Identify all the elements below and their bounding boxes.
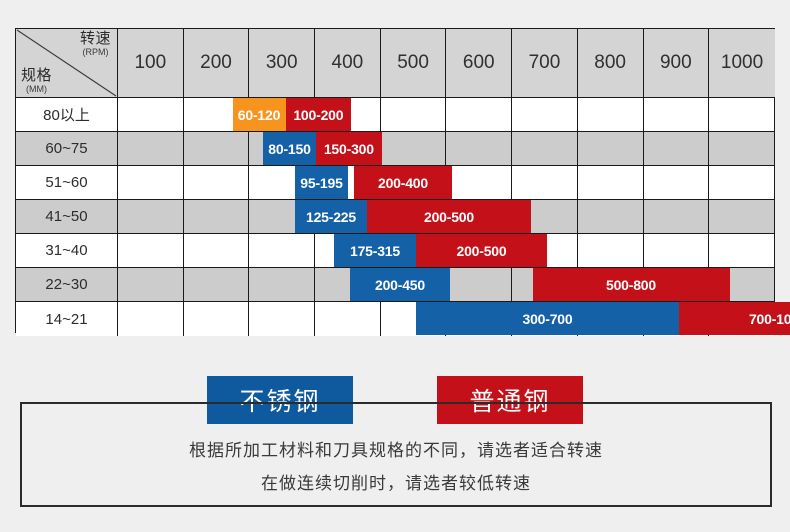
table-cell xyxy=(446,234,512,267)
table-cell xyxy=(184,132,250,165)
table-cell xyxy=(118,302,184,336)
table-cell xyxy=(512,268,578,301)
table-cell xyxy=(709,98,775,131)
column-header-300: 300 xyxy=(249,29,315,97)
table-cell xyxy=(118,98,184,131)
table-row: 14~21 xyxy=(16,302,774,336)
table-cell xyxy=(381,302,447,336)
row-label-spec: 22~30 xyxy=(16,268,118,301)
table-corner-cell: 转速 (RPM) 规格 (MM) xyxy=(16,29,118,97)
note-line-1: 根据所加工材料和刀具规格的不同，请选者适合转速 xyxy=(22,434,770,467)
table-cell xyxy=(578,132,644,165)
table-cell xyxy=(709,234,775,267)
table-cell xyxy=(446,166,512,199)
row-label-spec: 31~40 xyxy=(16,234,118,267)
row-label-spec: 51~60 xyxy=(16,166,118,199)
table-cell xyxy=(249,268,315,301)
table-cell xyxy=(709,166,775,199)
table-cell xyxy=(315,132,381,165)
table-cell xyxy=(512,132,578,165)
note-text-block: 根据所加工材料和刀具规格的不同，请选者适合转速 在做连续切削时，请选者较低转速 xyxy=(22,434,770,500)
table-cell xyxy=(184,98,250,131)
table-cell xyxy=(644,302,710,336)
table-header-row: 转速 (RPM) 规格 (MM) 100 200 300 400 500 600… xyxy=(16,29,774,98)
table-cell xyxy=(184,234,250,267)
note-line-2: 在做连续切削时，请选者较低转速 xyxy=(22,467,770,500)
table-cell xyxy=(315,234,381,267)
table-cell xyxy=(446,98,512,131)
table-cell xyxy=(446,302,512,336)
column-header-200: 200 xyxy=(184,29,250,97)
table-row: 41~50 xyxy=(16,200,774,234)
corner-spec-label: 规格 (MM) xyxy=(21,68,52,94)
table-cell xyxy=(709,200,775,233)
table-cell xyxy=(644,268,710,301)
note-box: 根据所加工材料和刀具规格的不同，请选者适合转速 在做连续切削时，请选者较低转速 xyxy=(20,402,772,507)
table-cell xyxy=(118,200,184,233)
table-cell xyxy=(446,132,512,165)
corner-spec-unit: (MM) xyxy=(21,85,52,94)
table-cell xyxy=(315,268,381,301)
table-cell xyxy=(118,234,184,267)
table-cell xyxy=(578,268,644,301)
table-cell xyxy=(249,98,315,131)
table-row: 51~60 xyxy=(16,166,774,200)
table-cell xyxy=(644,98,710,131)
table-cell xyxy=(578,302,644,336)
table-cell xyxy=(249,200,315,233)
table-cell xyxy=(315,98,381,131)
table-cell xyxy=(644,200,710,233)
table-cell xyxy=(184,268,250,301)
corner-spec-text: 规格 xyxy=(21,68,52,84)
table-cell xyxy=(184,166,250,199)
table-cell xyxy=(644,132,710,165)
corner-rpm-text: 转速 xyxy=(80,31,111,47)
table-cell xyxy=(381,132,447,165)
table-cell xyxy=(381,98,447,131)
table-cell xyxy=(644,234,710,267)
table-cell xyxy=(118,166,184,199)
table-cell xyxy=(512,302,578,336)
column-header-100: 100 xyxy=(118,29,184,97)
table-cell xyxy=(184,200,250,233)
table-cell xyxy=(512,98,578,131)
table-cell xyxy=(512,234,578,267)
table-cell xyxy=(578,98,644,131)
table-cell xyxy=(381,268,447,301)
table-row: 60~75 xyxy=(16,132,774,166)
table-cell xyxy=(381,234,447,267)
row-label-spec: 14~21 xyxy=(16,302,118,336)
table-row: 22~30 xyxy=(16,268,774,302)
table-cell xyxy=(118,132,184,165)
corner-rpm-label: 转速 (RPM) xyxy=(80,31,111,57)
table-row: 80以上 xyxy=(16,98,774,132)
table-cell xyxy=(709,268,775,301)
table-cell xyxy=(249,166,315,199)
table-cell xyxy=(578,234,644,267)
speed-spec-table: 转速 (RPM) 规格 (MM) 100 200 300 400 500 600… xyxy=(15,28,775,333)
row-label-spec: 60~75 xyxy=(16,132,118,165)
table-cell xyxy=(249,234,315,267)
column-header-1000: 1000 xyxy=(709,29,775,97)
table-cell xyxy=(512,200,578,233)
table-cell xyxy=(381,200,447,233)
table-cell xyxy=(644,166,710,199)
row-label-spec: 80以上 xyxy=(16,98,118,131)
table-cell xyxy=(381,166,447,199)
table-cell xyxy=(709,302,775,336)
row-label-spec: 41~50 xyxy=(16,200,118,233)
table-cell xyxy=(184,302,250,336)
table-cell xyxy=(709,132,775,165)
table-cell xyxy=(249,132,315,165)
column-header-800: 800 xyxy=(578,29,644,97)
table-cell xyxy=(578,200,644,233)
corner-rpm-unit: (RPM) xyxy=(80,48,111,57)
table-cell xyxy=(315,200,381,233)
column-header-500: 500 xyxy=(381,29,447,97)
table-row: 31~40 xyxy=(16,234,774,268)
table-cell xyxy=(118,268,184,301)
table-cell xyxy=(315,166,381,199)
table-cell xyxy=(578,166,644,199)
table-cell xyxy=(512,166,578,199)
column-header-900: 900 xyxy=(644,29,710,97)
column-header-700: 700 xyxy=(512,29,578,97)
table-cell xyxy=(249,302,315,336)
column-header-400: 400 xyxy=(315,29,381,97)
table-cell xyxy=(446,268,512,301)
table-cell xyxy=(315,302,381,336)
column-header-600: 600 xyxy=(446,29,512,97)
table-cell xyxy=(446,200,512,233)
